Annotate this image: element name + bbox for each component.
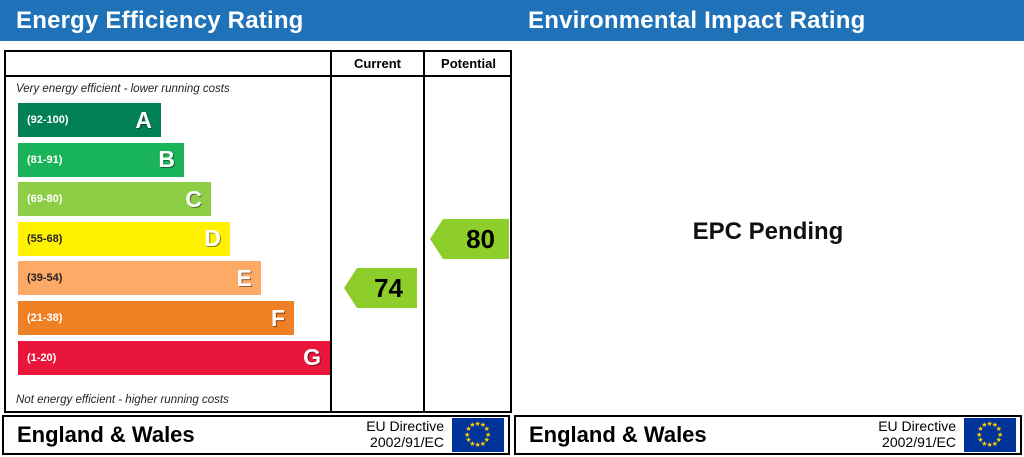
column-header-current: Current bbox=[330, 52, 423, 75]
rating-band-d: (55-68)D bbox=[18, 222, 230, 256]
environmental-impact-header: Environmental Impact Rating bbox=[512, 0, 1024, 41]
column-divider-current bbox=[330, 77, 332, 411]
rating-band-b: (81-91)B bbox=[18, 143, 184, 177]
potential-rating-arrow: 80 bbox=[430, 219, 509, 259]
band-range-label: (39-54) bbox=[18, 272, 62, 284]
directive-line-1: EU Directive bbox=[878, 419, 956, 435]
band-letter: E bbox=[237, 267, 252, 290]
energy-efficiency-panel: Current Potential Very energy efficient … bbox=[2, 50, 512, 413]
caption-not-efficient: Not energy efficient - higher running co… bbox=[16, 394, 229, 406]
footer-region-left: England & Wales bbox=[4, 422, 366, 448]
band-range-label: (1-20) bbox=[18, 352, 56, 364]
directive-line-2: 2002/91/EC bbox=[878, 435, 956, 451]
footer-region-right: England & Wales bbox=[516, 422, 878, 448]
footer-right: England & Wales EU Directive 2002/91/EC … bbox=[514, 415, 1022, 455]
directive-line-2: 2002/91/EC bbox=[366, 435, 444, 451]
energy-efficiency-header: Energy Efficiency Rating bbox=[0, 0, 512, 41]
directive-line-1: EU Directive bbox=[366, 419, 444, 435]
rating-band-c: (69-80)C bbox=[18, 182, 211, 216]
epc-pending-area: EPC Pending bbox=[514, 50, 1022, 413]
band-range-label: (21-38) bbox=[18, 312, 62, 324]
chart-column-header-row: Current Potential bbox=[6, 52, 510, 77]
eu-flag-star: ★ bbox=[469, 422, 476, 429]
potential-rating-value: 80 bbox=[466, 224, 495, 255]
epc-certificate: Energy Efficiency Rating Environmental I… bbox=[0, 0, 1024, 457]
rating-band-g: (1-20)G bbox=[18, 341, 330, 375]
environmental-impact-panel: EPC Pending bbox=[514, 50, 1022, 413]
eu-flag-icon: ★★★★★★★★★★★★ bbox=[452, 418, 504, 452]
band-letter: D bbox=[204, 227, 221, 250]
rating-band-a: (92-100)A bbox=[18, 103, 161, 137]
band-letter: B bbox=[158, 148, 175, 171]
rating-bands: (92-100)A(81-91)B(69-80)C(55-68)D(39-54)… bbox=[6, 103, 330, 381]
rating-band-f: (21-38)F bbox=[18, 301, 294, 335]
band-range-label: (81-91) bbox=[18, 154, 62, 166]
environmental-impact-title: Environmental Impact Rating bbox=[512, 7, 865, 35]
footer-left: England & Wales EU Directive 2002/91/EC … bbox=[2, 415, 510, 455]
column-divider-potential bbox=[423, 77, 425, 411]
column-header-potential: Potential bbox=[423, 52, 512, 75]
band-range-label: (55-68) bbox=[18, 233, 62, 245]
band-letter: A bbox=[135, 109, 152, 132]
eu-flag-icon: ★★★★★★★★★★★★ bbox=[964, 418, 1016, 452]
band-letter: C bbox=[185, 188, 202, 211]
footer-directive-right: EU Directive 2002/91/EC bbox=[878, 419, 964, 450]
current-rating-arrow: 74 bbox=[344, 268, 417, 308]
energy-efficiency-title: Energy Efficiency Rating bbox=[0, 7, 304, 35]
band-letter: G bbox=[303, 346, 321, 369]
rating-band-e: (39-54)E bbox=[18, 261, 261, 295]
band-range-label: (92-100) bbox=[18, 114, 69, 126]
footer-directive-left: EU Directive 2002/91/EC bbox=[366, 419, 452, 450]
band-range-label: (69-80) bbox=[18, 193, 62, 205]
epc-chart: Current Potential Very energy efficient … bbox=[4, 50, 512, 413]
current-rating-value: 74 bbox=[374, 273, 403, 304]
rating-band-list: Very energy efficient - lower running co… bbox=[6, 77, 330, 411]
caption-very-efficient: Very energy efficient - lower running co… bbox=[16, 83, 230, 95]
eu-flag-star: ★ bbox=[981, 422, 988, 429]
epc-pending-message: EPC Pending bbox=[693, 218, 844, 246]
band-letter: F bbox=[271, 307, 285, 330]
